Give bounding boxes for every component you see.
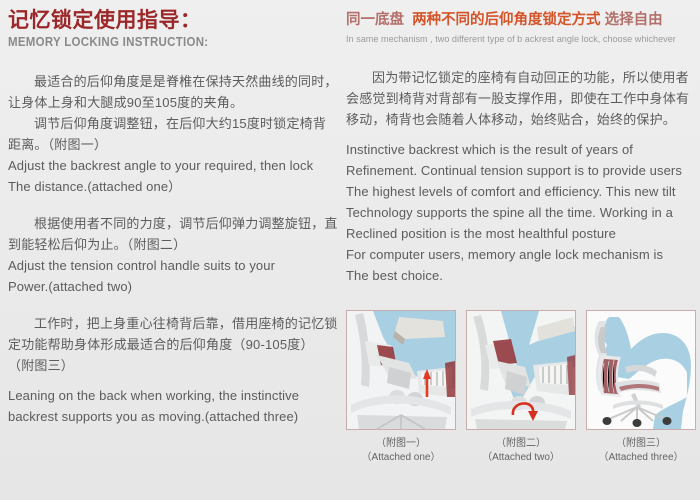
block-three-cn-line-two: （附图三）	[8, 355, 338, 376]
block-one-cn-line-two: 调节后仰角度调整钮，在后仰大约15度时锁定椅背距离。（附图一）	[8, 113, 338, 155]
figure-two-frame	[466, 310, 576, 430]
spacer	[8, 50, 338, 71]
block-two-cn-line-one: 根据使用者不同的力度，调节后仰弹力调整旋钮，直到能轻松后仰为止。（附图二）	[8, 213, 338, 255]
instruction-sheet: 记忆锁定使用指导： MEMORY LOCKING INSTRUCTION: 最适…	[0, 0, 700, 500]
page-title-cn: 记忆锁定使用指导：	[8, 8, 338, 34]
figure-one-caption-cn: （附图一）	[346, 437, 456, 451]
right-column: 同一底盘 两种不同的后仰角度锁定方式 选择自由 In same mechanis…	[346, 8, 694, 286]
figure-three-caption-en: （Attached three）	[586, 451, 696, 465]
figure-two: （附图二） （Attached two）	[466, 310, 576, 465]
right-en-line-7: The best choice.	[346, 265, 694, 286]
right-heading-en: In same mechanism , two different type o…	[346, 33, 680, 46]
spacer	[8, 297, 338, 313]
spacer	[8, 376, 338, 385]
block-one-en-line-one: Adjust the backrest angle to your requir…	[8, 155, 338, 176]
figure-three-frame	[586, 310, 696, 430]
left-column: 记忆锁定使用指导： MEMORY LOCKING INSTRUCTION: 最适…	[8, 8, 338, 427]
spacer	[8, 197, 338, 213]
right-heading-cn: 同一底盘 两种不同的后仰角度锁定方式 选择自由	[346, 10, 694, 30]
figure-one: （附图一） （Attached one）	[346, 310, 456, 465]
figure-two-caption: （附图二） （Attached two）	[466, 437, 576, 465]
right-en-line-1: Instinctive backrest which is the result…	[346, 139, 694, 160]
figure-row: （附图一） （Attached one）	[346, 310, 696, 465]
spacer	[346, 46, 694, 67]
block-three-en-line-one: Leaning on the back when working, the in…	[8, 385, 338, 406]
right-en-line-6: For computer users, memory angle lock me…	[346, 244, 694, 265]
right-en-line-4: Technology supports the spine all the ti…	[346, 202, 694, 223]
figure-one-caption-en: （Attached one）	[346, 451, 456, 465]
block-one-en-line-two: The distance.(attached one）	[8, 176, 338, 197]
right-heading-segment-two: 两种不同的后仰角度锁定方式	[412, 12, 601, 28]
right-heading-segment-three: 选择自由	[605, 12, 663, 28]
block-three-en-line-two: backrest supports you as moving.(attache…	[8, 406, 338, 427]
spacer	[346, 130, 694, 139]
instruction-block-two: 根据使用者不同的力度，调节后仰弹力调整旋钮，直到能轻松后仰为止。（附图二） Ad…	[8, 213, 338, 297]
instruction-block-one: 最适合的后仰角度是是脊椎在保持天然曲线的同时，让身体上身和大腿成90至105度的…	[8, 71, 338, 197]
block-two-en-line-one: Adjust the tension control handle suits …	[8, 255, 338, 276]
chair-tilt-lock-knob-closeup-image	[347, 311, 455, 429]
chair-side-view-with-seated-person-silhouette-image	[587, 311, 695, 429]
figure-three: （附图三） （Attached three）	[586, 310, 696, 465]
figure-two-caption-en: （Attached two）	[466, 451, 576, 465]
instruction-block-three: 工作时，把上身重心往椅背后靠，借用座椅的记忆锁定功能帮助身体形成最适合的后仰角度…	[8, 313, 338, 427]
right-en-line-2: Refinement. Continual tension support is…	[346, 160, 694, 181]
figure-three-caption-cn: （附图三）	[586, 437, 696, 451]
figure-three-caption: （附图三） （Attached three）	[586, 437, 696, 465]
page-title-en: MEMORY LOCKING INSTRUCTION:	[8, 35, 312, 50]
figure-two-caption-cn: （附图二）	[466, 437, 576, 451]
block-one-cn-line-one: 最适合的后仰角度是是脊椎在保持天然曲线的同时，让身体上身和大腿成90至105度的…	[8, 71, 338, 113]
figure-one-frame	[346, 310, 456, 430]
chair-tension-control-handle-closeup-image	[467, 311, 575, 429]
block-three-cn-line-one: 工作时，把上身重心往椅背后靠，借用座椅的记忆锁定功能帮助身体形成最适合的后仰角度…	[8, 313, 338, 355]
right-paragraph-cn: 因为带记忆锁定的座椅有自动回正的功能，所以使用者会感觉到椅背对背部有一股支撑作用…	[346, 67, 694, 130]
right-en-line-5: Reclined position is the most healthful …	[346, 223, 694, 244]
block-two-en-line-two: Power.(attached two)	[8, 276, 338, 297]
right-en-line-3: The highest levels of comfort and effici…	[346, 181, 694, 202]
figure-one-caption: （附图一） （Attached one）	[346, 437, 456, 465]
right-heading-segment-one: 同一底盘	[346, 12, 404, 28]
